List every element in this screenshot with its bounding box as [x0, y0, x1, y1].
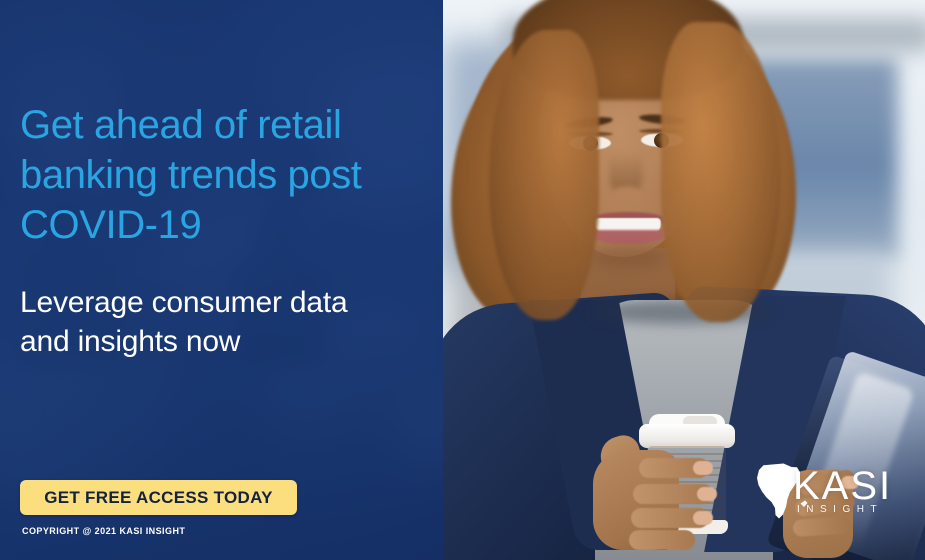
headline: Get ahead of retail banking trends post … [20, 100, 430, 250]
headline-line-3: COVID-19 [20, 200, 430, 250]
hair [489, 30, 599, 320]
headline-line-1: Get ahead of retail [20, 100, 430, 150]
finger [629, 530, 695, 550]
fingernail [693, 511, 713, 525]
left-content-panel: Get ahead of retail banking trends post … [0, 0, 443, 560]
logo-wordmark: KASI [793, 464, 892, 508]
marketing-banner: Get ahead of retail banking trends post … [0, 0, 925, 560]
chin-shadow [589, 246, 669, 268]
headline-line-2: banking trends post [20, 150, 430, 200]
subheadline: Leverage consumer data and insights now [20, 283, 430, 361]
subheadline-line-2: and insights now [20, 322, 430, 361]
fingernail [697, 487, 717, 501]
lower-lip [593, 230, 663, 244]
logo-tagline: INSIGHT [797, 504, 883, 515]
fingernail [693, 461, 713, 475]
subheadline-line-1: Leverage consumer data [20, 283, 430, 322]
copyright-text: COPYRIGHT @ 2021 KASI INSIGHT [22, 526, 185, 536]
nose-tip [611, 186, 643, 204]
kasi-insight-logo: KASI INSIGHT [753, 462, 918, 524]
get-free-access-button[interactable]: GET FREE ACCESS TODAY [20, 480, 297, 515]
cta-button-label: GET FREE ACCESS TODAY [44, 488, 273, 508]
